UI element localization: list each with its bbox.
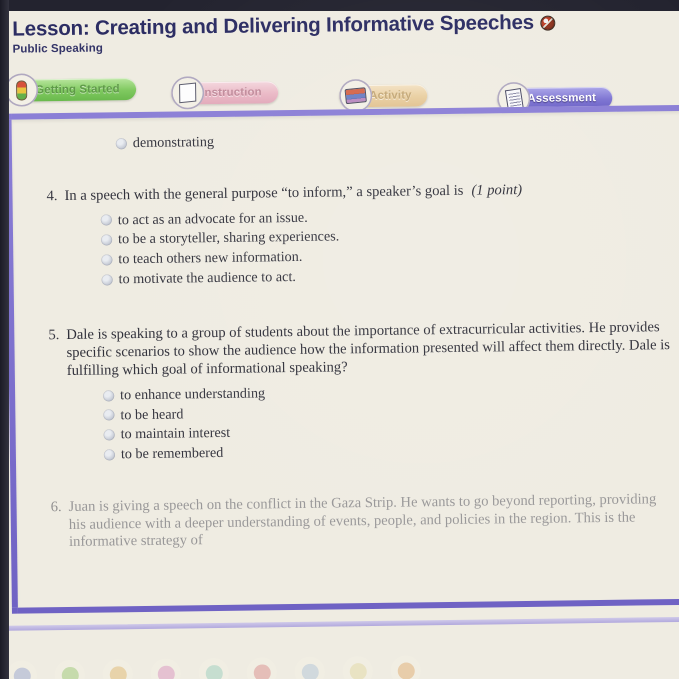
- page-icon: [171, 76, 204, 109]
- bottom-icon-tray: [7, 647, 679, 679]
- radio-button-icon[interactable]: [103, 390, 114, 401]
- radio-button-icon[interactable]: [104, 449, 115, 460]
- radio-button-icon[interactable]: [116, 138, 127, 149]
- photo-top-edge: [0, 0, 679, 11]
- tab-instruction-label: Instruction: [201, 86, 262, 99]
- circle-icon[interactable]: [343, 656, 373, 679]
- tab-activity-label: Activity: [369, 89, 411, 102]
- radio-button-icon[interactable]: [103, 410, 114, 421]
- question-row: 5. Dale is speaking to a group of studen…: [40, 320, 673, 382]
- question-row: 4. In a speech with the general purpose …: [38, 180, 670, 206]
- question-text-body: In a speech with the general purpose “to…: [64, 183, 463, 204]
- quiz-panel: demonstrating 4. In a speech with the ge…: [5, 105, 679, 614]
- page-title-text: Lesson: Creating and Delivering Informat…: [12, 11, 534, 41]
- books-icon: [339, 79, 372, 112]
- question-number: 6.: [42, 499, 68, 517]
- question-block: 5. Dale is speaking to a group of studen…: [40, 320, 674, 466]
- radio-button-icon[interactable]: [104, 430, 115, 441]
- radio-button-icon[interactable]: [101, 254, 112, 265]
- leaf-icon[interactable]: [55, 660, 85, 679]
- pencil-icon[interactable]: [7, 660, 37, 679]
- radio-button-icon[interactable]: [101, 234, 112, 245]
- list-item[interactable]: demonstrating: [116, 127, 670, 153]
- question-text: Dale is speaking to a group of students …: [66, 320, 673, 381]
- question-text: Juan is giving a speech on the conflict …: [68, 491, 675, 552]
- option-label: to motivate the audience to act.: [118, 268, 296, 289]
- globe-icon: [540, 16, 555, 31]
- globe-icon[interactable]: [199, 658, 229, 679]
- target-icon[interactable]: [247, 657, 277, 679]
- trophy-icon[interactable]: [103, 659, 133, 679]
- option-label: to teach others new information.: [118, 248, 302, 269]
- tab-getting-started-label: Getting Started: [35, 83, 120, 96]
- option-label: to maintain interest: [121, 424, 231, 444]
- option-label: demonstrating: [133, 133, 214, 153]
- screen-photo: e/lesson/viewer/lesson.aspx?lessonTitle=…: [0, 0, 679, 679]
- option-list: to act as an advocate for an issue. to b…: [101, 204, 672, 289]
- option-label: to be a storyteller, sharing experiences…: [118, 228, 339, 250]
- option-list: to enhance understanding to be heard to …: [103, 379, 674, 464]
- option-label: to be heard: [120, 405, 183, 425]
- question-block: 4. In a speech with the general purpose …: [38, 180, 671, 290]
- document-icon[interactable]: [295, 657, 325, 679]
- tab-assessment-label: Assessment: [527, 92, 596, 105]
- sun-icon[interactable]: [391, 655, 421, 679]
- option-label: to enhance understanding: [120, 384, 265, 405]
- question-number: 4.: [38, 188, 64, 206]
- question-row: 6. Juan is giving a speech on the confli…: [42, 491, 675, 553]
- photo-left-edge: [0, 0, 9, 679]
- radio-button-icon[interactable]: [102, 274, 113, 285]
- option-label: to be remembered: [121, 444, 224, 464]
- radio-button-icon[interactable]: [101, 215, 112, 226]
- tab-instruction[interactable]: Instruction: [171, 81, 278, 104]
- option-row[interactable]: demonstrating: [116, 127, 670, 153]
- tab-getting-started[interactable]: Getting Started: [5, 78, 136, 102]
- question-text: In a speech with the general purpose “to…: [64, 180, 670, 206]
- lesson-page: e/lesson/viewer/lesson.aspx?lessonTitle=…: [0, 0, 679, 679]
- person-icon[interactable]: [151, 659, 181, 679]
- bottom-divider: [4, 617, 679, 631]
- option-label: to act as an advocate for an issue.: [118, 208, 308, 229]
- tab-activity[interactable]: Activity: [339, 84, 428, 107]
- question-block: 6. Juan is giving a speech on the confli…: [42, 491, 675, 553]
- question-points: (1 point): [471, 182, 522, 199]
- question-number: 5.: [40, 327, 66, 345]
- traffic-light-icon: [5, 73, 38, 106]
- quiz-content: demonstrating 4. In a speech with the ge…: [12, 111, 679, 608]
